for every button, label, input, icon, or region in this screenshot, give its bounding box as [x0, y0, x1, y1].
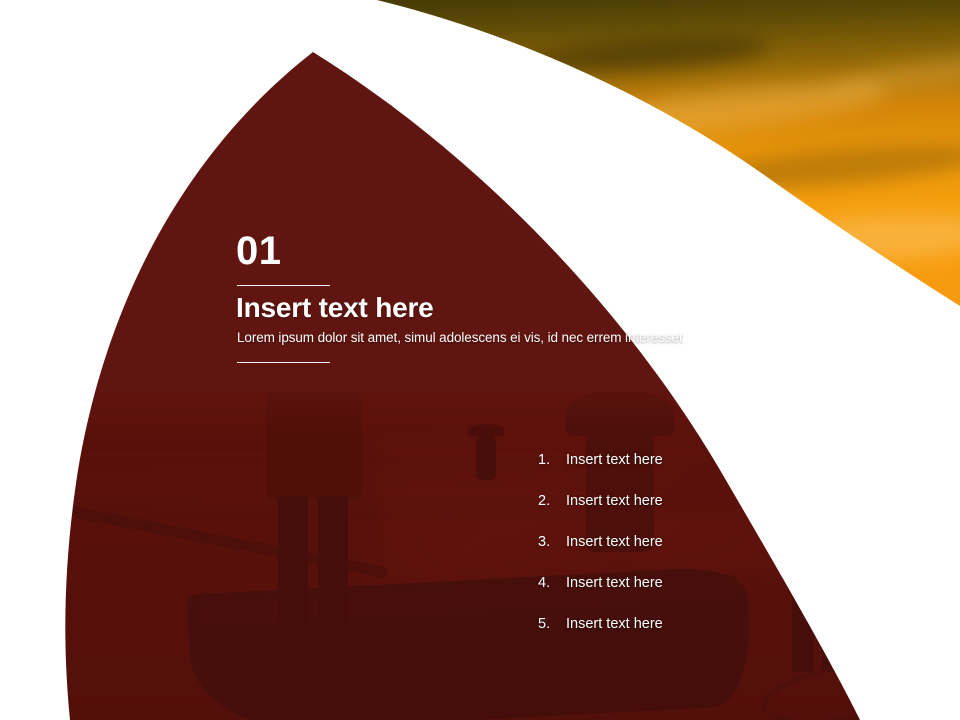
list-item-label: Insert text here — [566, 534, 663, 550]
list-item-number: 2. — [538, 493, 566, 509]
list-item-label: Insert text here — [566, 452, 663, 468]
list-item-label: Insert text here — [566, 616, 663, 632]
list-item[interactable]: 2. Insert text here — [538, 493, 798, 534]
numbered-list: 1. Insert text here 2. Insert text here … — [538, 452, 798, 657]
list-item[interactable]: 3. Insert text here — [538, 534, 798, 575]
slide-title: Insert text here — [236, 292, 434, 324]
list-item-number: 3. — [538, 534, 566, 550]
list-item[interactable]: 5. Insert text here — [538, 616, 798, 657]
list-item-number: 4. — [538, 575, 566, 591]
list-item-label: Insert text here — [566, 493, 663, 509]
fisherman-silhouette — [840, 405, 960, 705]
slide-number-label: 01 — [236, 231, 282, 271]
list-item[interactable]: 1. Insert text here — [538, 452, 798, 493]
divider-rule-top — [237, 285, 330, 286]
list-item[interactable]: 4. Insert text here — [538, 575, 798, 616]
red-fill-fade — [0, 360, 960, 430]
list-item-label: Insert text here — [566, 575, 663, 591]
slide-canvas: 01 Insert text here Lorem ipsum dolor si… — [0, 0, 960, 720]
cloud — [599, 250, 880, 300]
list-item-number: 5. — [538, 616, 566, 632]
slide-subtitle: Lorem ipsum dolor sit amet, simul adoles… — [237, 330, 683, 345]
divider-rule-bottom — [237, 362, 330, 363]
list-item-number: 1. — [538, 452, 566, 468]
